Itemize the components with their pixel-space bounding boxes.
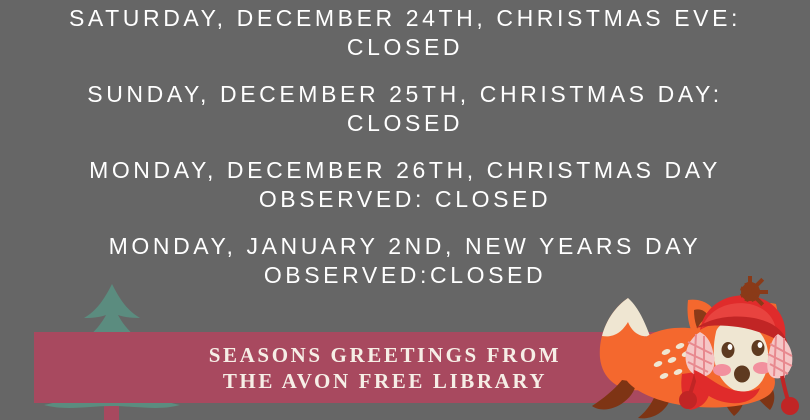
- greeting-banner-text: SEASONS GREETINGS FROM THE AVON FREE LIB…: [150, 335, 620, 401]
- announcement-christmas-day-observed: MONDAY, DECEMBER 26TH, CHRISTMAS DAY OBS…: [0, 156, 810, 214]
- greeting-line-1: SEASONS GREETINGS FROM: [209, 342, 561, 368]
- greeting-line-2: THE AVON FREE LIBRARY: [223, 368, 547, 394]
- winter-fox-icon: [570, 276, 810, 420]
- announcement-list: SATURDAY, DECEMBER 24TH, CHRISTMAS EVE: …: [0, 0, 810, 290]
- announcement-christmas-eve: SATURDAY, DECEMBER 24TH, CHRISTMAS EVE: …: [0, 4, 810, 62]
- announcement-christmas-day: SUNDAY, DECEMBER 25TH, CHRISTMAS DAY: CL…: [0, 80, 810, 138]
- holiday-hours-poster: SATURDAY, DECEMBER 24TH, CHRISTMAS EVE: …: [0, 0, 810, 420]
